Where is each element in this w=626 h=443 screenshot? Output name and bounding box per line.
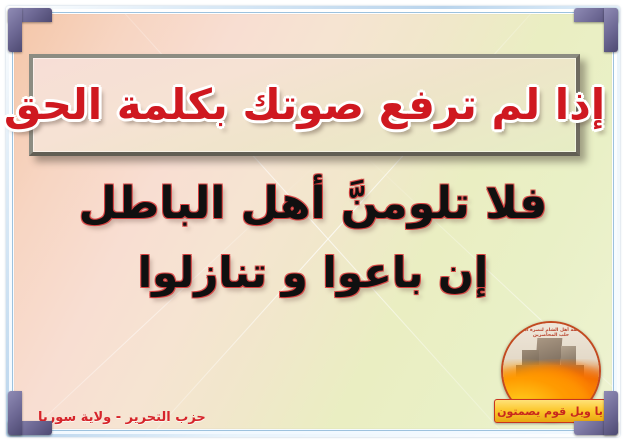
- body-line-1: فلا تلومنَّ أهل الباطل: [0, 178, 626, 230]
- body-line-2: إن باعوا و تنازلوا: [0, 248, 626, 298]
- bracket-arm-vertical: [604, 391, 618, 435]
- corner-bracket-bottom-left: [8, 391, 52, 435]
- poster-image: إذا لم ترفع صوتك بكلمة الحق فلا تلومنَّ …: [0, 0, 626, 443]
- corner-bracket-top-left: [8, 8, 52, 52]
- bracket-arm-vertical: [8, 8, 22, 52]
- bracket-arm-vertical: [604, 8, 618, 52]
- corner-bracket-top-right: [574, 8, 618, 52]
- bracket-arm-vertical: [8, 391, 22, 435]
- headline-plaque: إذا لم ترفع صوتك بكلمة الحق: [29, 54, 580, 156]
- corner-bracket-bottom-right: [574, 391, 618, 435]
- headline-text: إذا لم ترفع صوتك بكلمة الحق: [4, 84, 605, 126]
- body-text-block: فلا تلومنَّ أهل الباطل إن باعوا و تنازلو…: [0, 178, 626, 297]
- emblem-arc-text: وقفة أهل الشام لنصرة أهل حلب المحاصرين: [515, 328, 588, 353]
- organization-signature: حزب التحرير - ولاية سوريا: [38, 410, 206, 425]
